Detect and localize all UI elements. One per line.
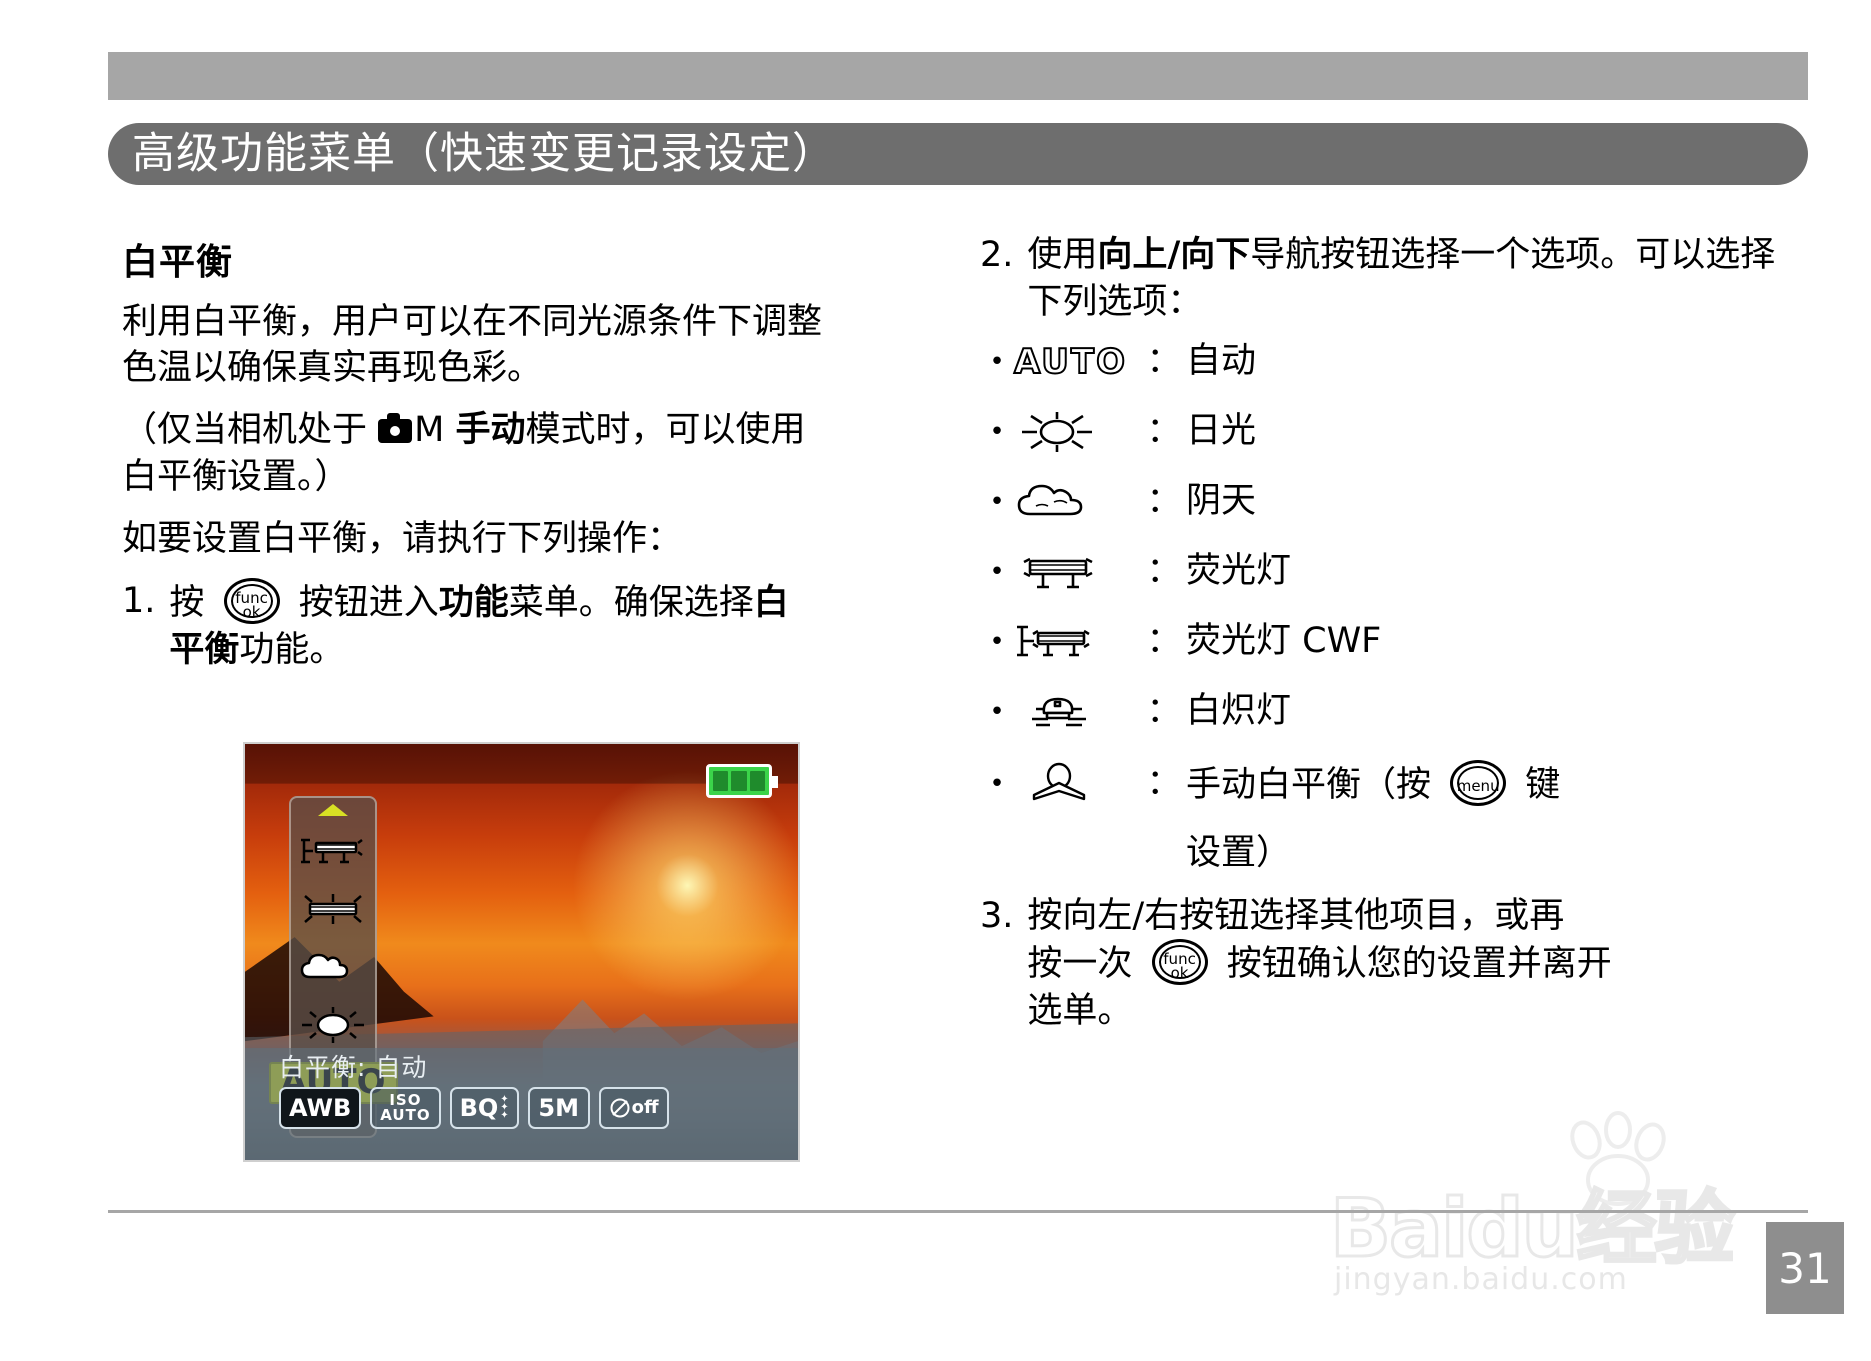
step-3-body: 按向左/右按钮选择其他项目，或再 按一次 func ok 按钮确认您的设置并离开… <box>1027 893 1780 1036</box>
step1-mid-bold: 功能 <box>439 583 509 623</box>
left-column: 白平衡 利用白平衡，用户可以在不同光源条件下调整色温以确保真实再现色彩。 （仅当… <box>122 240 822 688</box>
chip-iso-stack: ISO AUTO <box>380 1093 430 1122</box>
step2-pre: 使用 <box>1027 235 1097 275</box>
lcd-chip-row: AWB ISO AUTO BQ ✦✦✦ 5M <box>279 1087 798 1129</box>
fluorescent-icon <box>298 890 368 928</box>
fluorescent-icon <box>1014 550 1142 594</box>
scroll-up-arrow-icon[interactable] <box>318 804 348 816</box>
wb-strip-item-daylight[interactable] <box>295 996 371 1054</box>
chip-iso-line2: AUTO <box>380 1108 430 1122</box>
option-label: 自动 <box>1186 340 1780 384</box>
page-title: 高级功能菜单（快速变更记录设定） <box>132 133 836 176</box>
watermark-main-text: Baidu经验 <box>1330 1164 1733 1280</box>
chip-iso[interactable]: ISO AUTO <box>370 1087 440 1129</box>
para2-bold: 手动 <box>456 410 526 450</box>
step3-line2-pre: 按一次 <box>1027 944 1132 984</box>
wb-strip-item-cloudy[interactable] <box>295 938 371 996</box>
wb-strip-item-fluorescent[interactable] <box>295 880 371 938</box>
quality-stars-icon: ✦✦✦ <box>500 1096 508 1120</box>
auto-icon-text: AUTO <box>1014 341 1127 384</box>
cloudy-cloud-icon <box>298 951 368 983</box>
option-colon: ： <box>1142 340 1186 384</box>
bullet-icon: • <box>980 349 1014 375</box>
ok-label: ok <box>227 605 277 620</box>
ok-label: ok <box>1155 966 1205 981</box>
bullet-icon: • <box>980 559 1014 585</box>
auto-icon: AUTO <box>1014 340 1142 384</box>
camera-mode-icon <box>378 419 412 443</box>
step2-bold1: 向上 <box>1097 235 1167 275</box>
right-column: 2. 使用向上/向下导航按钮选择一个选项。可以选择下列选项： • AUTO ： … <box>980 232 1780 1049</box>
chip-quality-inner: BQ ✦✦✦ <box>460 1094 509 1122</box>
chip-flash-off[interactable]: off <box>599 1087 669 1129</box>
func-ok-button-icon: func ok <box>224 578 280 624</box>
paragraph-intro: 利用白平衡，用户可以在不同光源条件下调整色温以确保真实再现色彩。 <box>122 299 822 391</box>
page-title-banner: 高级功能菜单（快速变更记录设定） <box>108 123 1808 185</box>
list-item: • ： 白炽灯 <box>980 690 1780 734</box>
step3-line2-post: 按钮确认您的设置并离开 <box>1227 944 1612 984</box>
paragraph-howto: 如要设置白平衡，请执行下列操作： <box>122 516 822 562</box>
fluorescent-glyph <box>1014 549 1104 595</box>
option-label: 荧光灯 CWF <box>1186 620 1780 664</box>
tungsten-icon <box>1014 690 1142 734</box>
lcd-status-bar: 白平衡: 自动 AWB ISO AUTO BQ ✦✦✦ 5M <box>245 1048 798 1160</box>
chip-quality-label: BQ <box>460 1094 499 1122</box>
chip-resolution[interactable]: 5M <box>528 1087 590 1129</box>
option-colon: ： <box>1142 690 1186 734</box>
wb-strip-item-fluorescent-cwf[interactable] <box>295 822 371 880</box>
step-3-number: 3. <box>980 893 1027 1036</box>
step1-tail-post: 功能。 <box>239 630 344 670</box>
wb-option-list: • AUTO ： 自动 • ： 日光 <box>980 340 1780 808</box>
camera-lcd-screenshot: AUTO 白平衡: 自动 AWB ISO AUTO BQ ✦✦✦ <box>243 742 800 1162</box>
daylight-sun-glyph <box>1014 409 1100 455</box>
option-label: 日光 <box>1186 410 1780 454</box>
bullet-icon: • <box>980 489 1014 515</box>
top-decorative-bar <box>108 52 1808 100</box>
manual-wb-icon <box>1014 762 1142 806</box>
step2-bold2: 向下 <box>1180 235 1250 275</box>
fluorescent-cwf-icon <box>298 834 368 868</box>
bullet-icon: • <box>980 771 1014 797</box>
list-item: • ： 阴天 <box>980 480 1780 524</box>
fluorescent-cwf-glyph <box>1014 619 1108 665</box>
list-item: • ： 日光 <box>980 410 1780 454</box>
menu-button-icon: menu <box>1450 760 1506 806</box>
paw-print-icon <box>1556 1110 1686 1210</box>
manual-wb-tail: 键 <box>1525 765 1560 805</box>
step-1-number: 1. <box>122 578 169 674</box>
option-colon: ： <box>1142 550 1186 594</box>
bullet-icon: • <box>980 419 1014 445</box>
step3-line3: 选单。 <box>1027 991 1132 1031</box>
step2-sep: / <box>1167 235 1180 275</box>
manual-wb-tail2: 设置） <box>1186 824 1780 875</box>
bullet-icon: • <box>980 629 1014 655</box>
fluorescent-cwf-icon <box>1014 620 1142 664</box>
menu-label: menu <box>1453 779 1503 794</box>
step-1: 1. 按 func ok 按钮进入功能菜单。确保选择白平衡功能。 <box>122 578 822 674</box>
chip-awb[interactable]: AWB <box>279 1087 361 1129</box>
bullet-icon: • <box>980 699 1014 725</box>
option-colon: ： <box>1142 620 1186 664</box>
list-item: • AUTO ： 自动 <box>980 340 1780 384</box>
footer-divider <box>108 1210 1808 1213</box>
list-item: • ： 荧光灯 CWF <box>980 620 1780 664</box>
step-3: 3. 按向左/右按钮选择其他项目，或再 按一次 func ok 按钮确认您的设置… <box>980 893 1780 1036</box>
step-2-body: 使用向上/向下导航按钮选择一个选项。可以选择下列选项： <box>1027 232 1780 326</box>
chip-flash-off-label: off <box>632 1097 659 1118</box>
baidu-watermark: Baidu经验 jingyan.baidu.com <box>1330 1140 1800 1340</box>
flash-off-icon <box>609 1097 631 1119</box>
para2-mode: M <box>414 410 444 450</box>
cloudy-cloud-glyph <box>1014 482 1104 522</box>
chip-quality[interactable]: BQ ✦✦✦ <box>450 1087 519 1129</box>
daylight-sun-icon <box>1014 410 1142 454</box>
option-label: 手动白平衡（按 menu 键 <box>1186 760 1780 808</box>
list-item: • ： 荧光灯 <box>980 550 1780 594</box>
page-number-badge: 31 <box>1766 1222 1844 1314</box>
step3-line1: 按向左/右按钮选择其他项目，或再 <box>1027 896 1564 936</box>
manual-wb-glyph <box>1014 761 1104 807</box>
battery-indicator-icon <box>706 764 772 798</box>
func-ok-button-icon: func ok <box>1152 939 1208 985</box>
watermark-sub-text: jingyan.baidu.com <box>1334 1262 1628 1297</box>
paragraph-manual-mode: （仅当相机处于 M 手动模式时，可以使用白平衡设置。） <box>122 407 822 499</box>
option-label: 白炽灯 <box>1186 690 1780 734</box>
step1-mid-pre: 按钮进入 <box>299 583 439 623</box>
step1-pre: 按 <box>169 583 204 623</box>
step-1-body: 按 func ok 按钮进入功能菜单。确保选择白平衡功能。 <box>169 578 822 674</box>
option-colon: ： <box>1142 410 1186 454</box>
manual-wb-label: 手动白平衡（按 <box>1186 765 1431 805</box>
cloudy-cloud-icon <box>1014 480 1142 524</box>
option-label: 荧光灯 <box>1186 550 1780 594</box>
step-2-number: 2. <box>980 232 1027 326</box>
daylight-sun-icon <box>298 1005 368 1045</box>
step-2: 2. 使用向上/向下导航按钮选择一个选项。可以选择下列选项： <box>980 232 1780 326</box>
option-label: 阴天 <box>1186 480 1780 524</box>
chip-awb-label: AWB <box>289 1094 351 1122</box>
list-item: • ： 手动白平衡（按 menu 键 <box>980 760 1780 808</box>
lcd-status-label: 白平衡: 自动 <box>279 1054 798 1082</box>
section-heading: 白平衡 <box>122 240 822 285</box>
option-colon: ： <box>1142 480 1186 524</box>
tungsten-glyph <box>1014 689 1104 735</box>
step1-mid-post: 菜单。确保选择 <box>509 583 754 623</box>
option-colon: ： <box>1142 762 1186 806</box>
chip-resolution-label: 5M <box>538 1094 579 1122</box>
para2-pre: （仅当相机处于 <box>122 410 367 450</box>
